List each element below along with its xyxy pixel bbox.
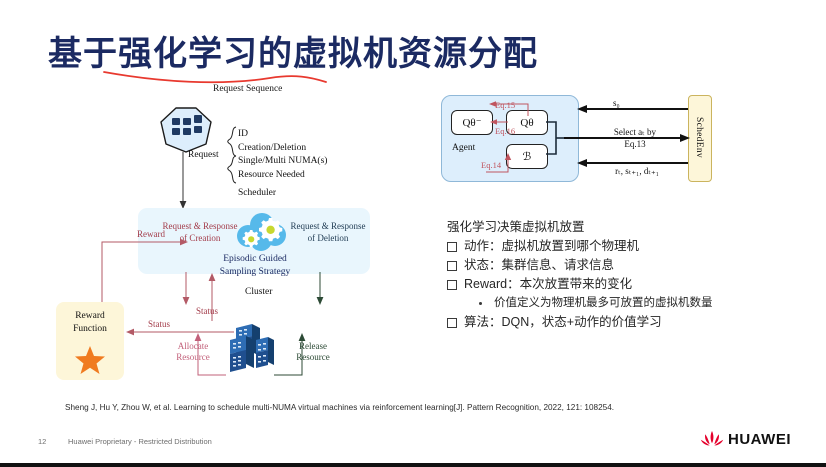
eq16-arrow: [489, 118, 509, 126]
request-label: Request: [188, 150, 219, 160]
select-action-line-2: Eq.13: [585, 138, 685, 150]
eq14-label: Eq.14: [481, 160, 501, 170]
confidentiality-note: Huawei Proprietary - Restricted Distribu…: [68, 437, 212, 446]
select-action-line-1: Select aₜ by: [585, 126, 685, 138]
slide-canvas: 基于强化学习的虚拟机资源分配 Request Sequence Request …: [0, 0, 826, 467]
bullet-list: 强化学习决策虚拟机放置 动作：虚拟机放置到哪个物理机 状态：集群信息、请求信息 …: [447, 218, 807, 332]
bullet-item-reward: Reward：本次放置带来的变化: [447, 275, 807, 294]
allocate-line-1: Allocate: [169, 341, 217, 352]
vm-hexagon-icon: [158, 106, 214, 154]
s0-label: s₀: [613, 98, 620, 108]
dot-bullet-icon: [479, 302, 482, 305]
creation-down-arrow: [180, 272, 192, 306]
square-bullet-icon: [447, 242, 457, 252]
huawei-logo-icon: [700, 430, 724, 450]
bullet-heading: 强化学习决策虚拟机放置: [447, 218, 807, 237]
request-arrow: [176, 152, 190, 210]
bullet-text: 状态：集群信息、请求信息: [464, 256, 614, 275]
allocate-resource-label: Allocate Resource: [169, 341, 217, 363]
bullet-item-state: 状态：集群信息、请求信息: [447, 256, 807, 275]
request-field: Resource Needed: [238, 169, 327, 183]
schedenv-label: SchedEnv: [694, 117, 704, 158]
bullet-item-algorithm: 算法：DQN，状态+动作的价值学习: [447, 313, 807, 332]
eq15-label: Eq.15: [495, 100, 515, 110]
bullet-subtext: 价值定义为物理机最多可放置的虚拟机数量: [494, 294, 713, 313]
strategy-line-1: Episodic Guided: [200, 253, 310, 266]
request-field: ID: [238, 128, 327, 142]
huawei-wordmark: HUAWEI: [728, 431, 791, 448]
cluster-label: Cluster: [245, 287, 272, 297]
bullet-text: 动作：虚拟机放置到哪个物理机: [464, 237, 639, 256]
eq16-label: Eq.16: [495, 126, 515, 136]
feedback-label: rₜ, sₜ₊₁, dₜ₊₁: [590, 166, 684, 177]
cloud-gears-icon: [232, 212, 288, 252]
page-number: 12: [38, 437, 46, 446]
square-bullet-icon: [447, 318, 457, 328]
bullet-subitem-reward-definition: 价值定义为物理机最多可放置的虚拟机数量: [479, 294, 807, 313]
release-line-1: Release: [288, 341, 338, 352]
agent-output-bracket: [546, 112, 564, 164]
reward-line-2: Function: [56, 323, 124, 336]
request-field: Creation/Deletion: [238, 142, 327, 156]
bullet-text: 算法：DQN，状态+动作的价值学习: [464, 313, 662, 332]
reward-arrow-label: Reward: [137, 229, 165, 239]
request-field: Single/Multi NUMA(s): [238, 155, 327, 169]
deletion-line-1: Request & Response: [278, 220, 378, 232]
s0-arrow: [576, 104, 690, 114]
release-resource-label: Release Resource: [288, 341, 338, 363]
deletion-line-2: of Deletion: [278, 232, 378, 244]
square-bullet-icon: [447, 261, 457, 271]
bottom-bar: [0, 463, 826, 467]
release-line-2: Resource: [288, 352, 338, 363]
bullet-text: Reward：本次放置带来的变化: [464, 275, 632, 294]
star-icon: [74, 345, 106, 375]
request-sequence-label: Request Sequence: [213, 84, 282, 94]
deletion-down-arrow: [314, 272, 326, 306]
reward-function-label: Reward Function: [56, 310, 124, 336]
scheduler-label: Scheduler: [238, 188, 276, 198]
select-action-label: Select aₜ by Eq.13: [585, 126, 685, 150]
request-fields-list: ID Creation/Deletion Single/Multi NUMA(s…: [238, 128, 327, 182]
request-fields-brace: [226, 126, 238, 184]
reward-arrow: [98, 236, 190, 306]
reward-line-1: Reward: [56, 310, 124, 323]
citation-text: Sheng J, Hu Y, Zhou W, et al. Learning t…: [65, 403, 614, 412]
square-bullet-icon: [447, 280, 457, 290]
allocate-line-2: Resource: [169, 352, 217, 363]
request-response-deletion-label: Request & Response of Deletion: [278, 220, 378, 244]
status-label-right: Status: [196, 306, 218, 316]
agent-label: Agent: [452, 143, 475, 153]
status-label-left: Status: [148, 319, 170, 329]
schedenv-label-wrap: SchedEnv: [688, 95, 710, 180]
bullet-item-action: 动作：虚拟机放置到哪个物理机: [447, 237, 807, 256]
q-target-network-box: Qθ⁻: [451, 110, 493, 135]
